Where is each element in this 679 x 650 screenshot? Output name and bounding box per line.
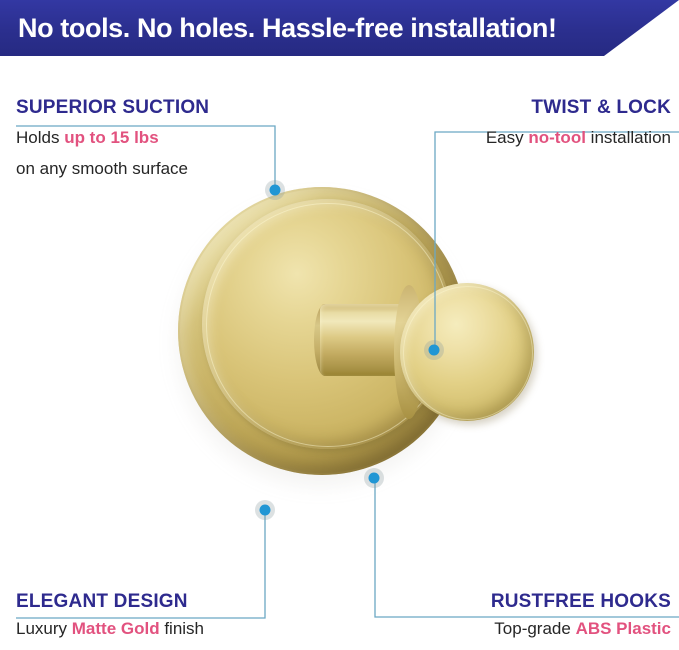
text-pre: Easy [486, 128, 529, 147]
callout-title-twist-and-lock: TWIST & LOCK [486, 97, 671, 119]
callout-rustfree-hooks: RUSTFREE HOOKS Top-grade ABS Plastic [491, 591, 671, 641]
infographic-page: No tools. No holes. Hassle-free installa… [0, 0, 679, 650]
callout-line1-rustfree-hooks: Top-grade ABS Plastic [491, 617, 671, 641]
callout-line1-superior-suction: Holds up to 15 lbs [16, 126, 209, 150]
text-post: finish [160, 619, 204, 638]
product-image [150, 165, 570, 535]
hook-knob-edge [403, 286, 533, 420]
callout-superior-suction: SUPERIOR SUCTION Holds up to 15 lbs on a… [16, 97, 209, 181]
callout-elegant-design: ELEGANT DESIGN Luxury Matte Gold finish [16, 591, 204, 641]
callout-title-elegant-design: ELEGANT DESIGN [16, 591, 204, 613]
callout-line1-elegant-design: Luxury Matte Gold finish [16, 617, 204, 641]
text-highlight: ABS Plastic [576, 619, 671, 638]
text-pre: Luxury [16, 619, 72, 638]
banner-headline: No tools. No holes. Hassle-free installa… [18, 6, 618, 50]
callout-title-rustfree-hooks: RUSTFREE HOOKS [491, 591, 671, 613]
callout-line2-superior-suction: on any smooth surface [16, 157, 209, 181]
text-highlight: no-tool [528, 128, 586, 147]
callout-twist-and-lock: TWIST & LOCK Easy no-tool installation [486, 97, 671, 150]
text-highlight: up to 15 lbs [64, 128, 158, 147]
text-pre: Top-grade [494, 619, 575, 638]
text-pre: Holds [16, 128, 64, 147]
text-pre: on any smooth surface [16, 159, 188, 178]
text-highlight: Matte Gold [72, 619, 160, 638]
callout-line1-twist-and-lock: Easy no-tool installation [486, 126, 671, 150]
text-post: installation [586, 128, 671, 147]
callout-title-superior-suction: SUPERIOR SUCTION [16, 97, 209, 119]
